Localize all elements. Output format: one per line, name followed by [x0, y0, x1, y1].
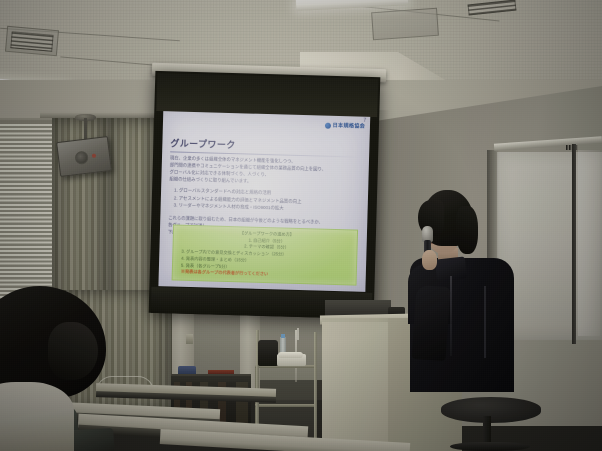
speaker-indicator-led: [92, 154, 96, 158]
whiteboard-glare: [578, 150, 600, 336]
projection-screen: 7 日本規格協会 グループワーク 現在、企業の多くは組織全体のマネジメント機能を…: [149, 71, 381, 319]
lectern-face-left: [322, 322, 388, 451]
projected-slide: 7 日本規格協会 グループワーク 現在、企業の多くは組織全体のマネジメント機能を…: [158, 111, 370, 292]
telephone-handset[interactable]: [278, 352, 303, 358]
speaker-mount-pole: [84, 118, 87, 140]
air-vent: [5, 26, 59, 56]
presenter-arm: [411, 285, 450, 361]
office-chair-base: [450, 442, 530, 451]
presenter-hair-side: [456, 206, 478, 254]
speaker-cone: [74, 151, 88, 165]
slide-logo: 日本規格協会: [325, 122, 365, 130]
av-cart-shelf: [255, 404, 317, 407]
presenter-jacket-placket: [450, 276, 452, 356]
presenter-hand: [422, 250, 437, 270]
wall-switch-plate[interactable]: [186, 334, 193, 344]
company-logo-icon: [325, 122, 331, 128]
water-bottle-cap: [281, 334, 285, 338]
slide-numbered-list: 1. グローバルスタンダードへの対応と規格の活用 2. アセスメントによる組織能…: [174, 186, 362, 214]
ceiling-speaker-icon: [56, 136, 112, 177]
venetian-blinds[interactable]: [0, 124, 54, 302]
bag-on-cart: [258, 340, 278, 366]
av-cart-pole: [314, 332, 317, 442]
slide-content: 7 日本規格協会 グループワーク 現在、企業の多くは組織全体のマネジメント機能を…: [158, 111, 370, 292]
slide-paragraph: 現在、企業の多くは組織全体のマネジメント機能を強化しつつ、 部門間の連携やコミュ…: [169, 155, 362, 188]
presenter: [400, 190, 520, 390]
audience-member-foreground: [0, 286, 130, 451]
presenter-jacket-seam: [484, 286, 486, 358]
slide-highlight-box: 【グループワークの進め方】 1. 自己紹介（5分） 2. テーマの確認（5分） …: [172, 224, 358, 285]
whiteboard-divider: [572, 144, 576, 344]
screen-top-border: [156, 73, 378, 117]
office-chair-seat[interactable]: [441, 397, 541, 423]
ceiling-access-panel: [371, 8, 439, 41]
lecture-room-photo: 7 日本規格協会 グループワーク 現在、企業の多くは組織全体のマネジメント機能を…: [0, 0, 602, 451]
air-vent-grille: [10, 31, 53, 52]
audience-member-hair: [48, 322, 98, 380]
audience-member-shoulder: [0, 382, 74, 451]
slide-logo-text: 日本規格協会: [333, 122, 366, 130]
hanging-cable: [297, 328, 299, 340]
